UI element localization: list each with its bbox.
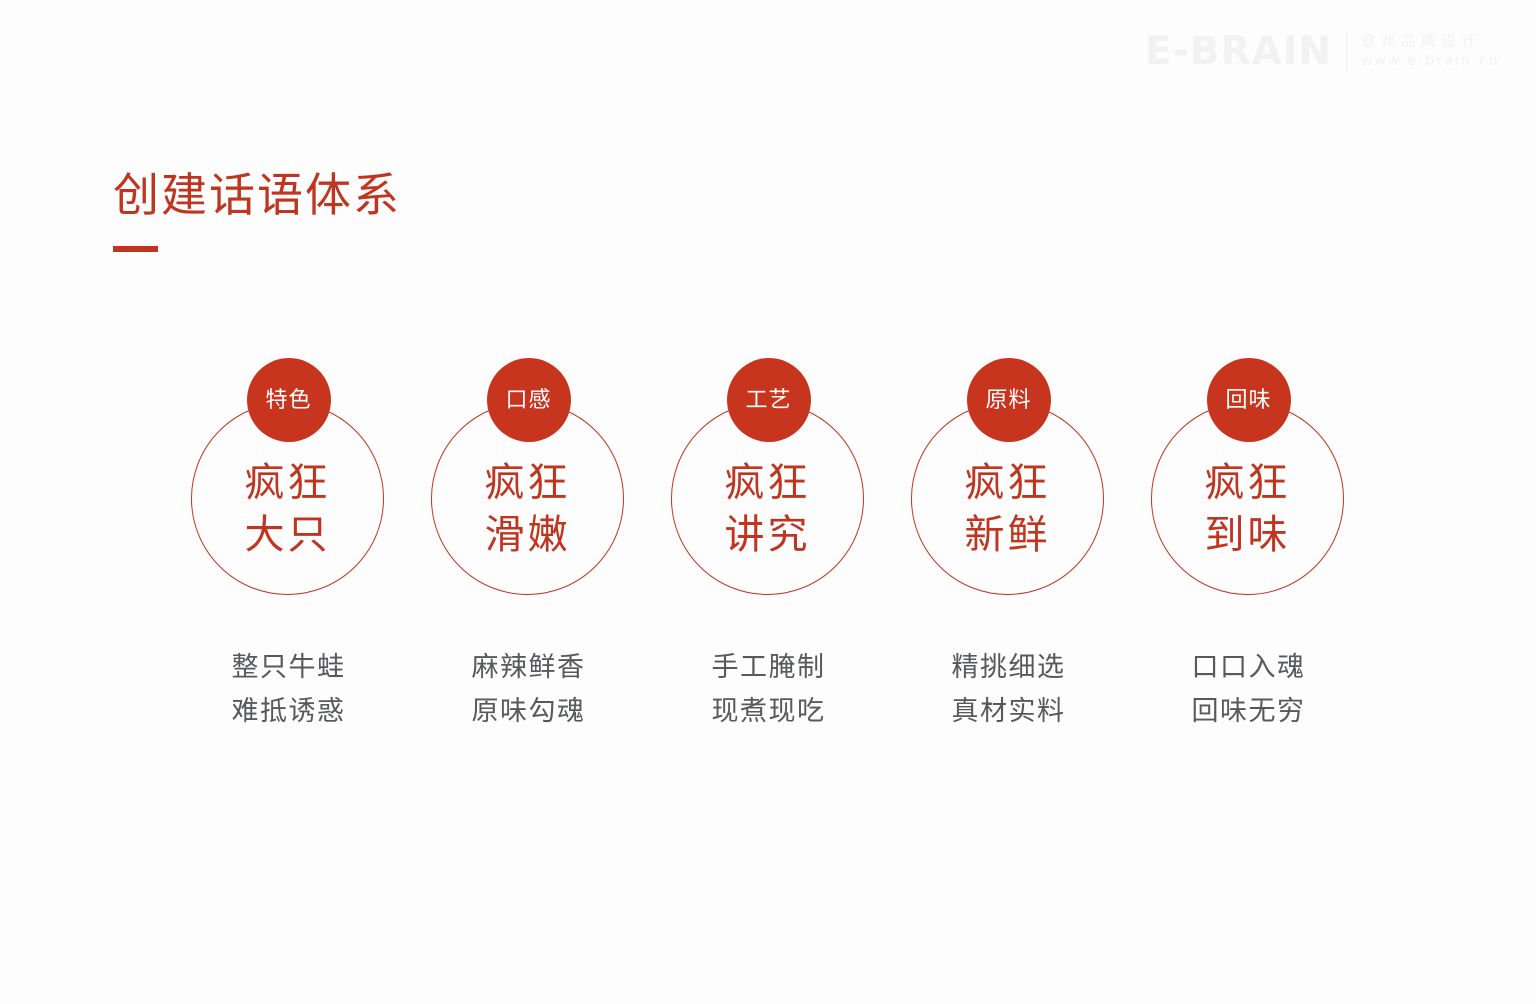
watermark-company-name: 意邦品牌设计 xyxy=(1361,34,1500,49)
pillar-caption: 麻辣鲜香 原味勾魂 xyxy=(472,646,586,733)
pillar-badge-label: 工艺 xyxy=(745,389,791,411)
caption-line-1: 手工腌制 xyxy=(712,646,826,690)
caption-line-1: 精挑细选 xyxy=(952,646,1066,690)
pillar-badge-label: 特色 xyxy=(265,389,311,411)
pillar-circle-group: 疯狂 滑嫩 口感 xyxy=(431,358,626,597)
slogan-line-2: 到味 xyxy=(1205,510,1291,561)
pillar-item: 疯狂 大只 特色 整只牛蛙 难抵诱惑 xyxy=(191,358,386,733)
pillar-slogan: 疯狂 新鲜 xyxy=(965,458,1051,560)
pillar-slogan: 疯狂 滑嫩 xyxy=(485,458,571,560)
pillar-circle-group: 疯狂 讲究 工艺 xyxy=(671,358,866,597)
caption-line-1: 口口入魂 xyxy=(1192,646,1306,690)
slogan-line-2: 滑嫩 xyxy=(485,510,571,561)
pillar-badge: 工艺 xyxy=(727,358,811,442)
pillar-badge: 特色 xyxy=(247,358,331,442)
slogan-line-1: 疯狂 xyxy=(965,458,1051,509)
pillar-badge: 口感 xyxy=(487,358,571,442)
pillar-caption: 口口入魂 回味无穷 xyxy=(1192,646,1306,733)
caption-line-2: 回味无穷 xyxy=(1192,690,1306,734)
slogan-line-2: 新鲜 xyxy=(965,510,1051,561)
caption-line-1: 整只牛蛙 xyxy=(232,646,346,690)
pillar-slogan: 疯狂 讲究 xyxy=(725,458,811,560)
slogan-line-1: 疯狂 xyxy=(1205,458,1291,509)
pillar-item: 疯狂 到味 回味 口口入魂 回味无穷 xyxy=(1151,358,1346,733)
slogan-line-2: 大只 xyxy=(245,510,331,561)
pillar-item: 疯狂 新鲜 原料 精挑细选 真材实料 xyxy=(911,358,1106,733)
pillar-badge-label: 口感 xyxy=(505,389,551,411)
caption-line-1: 麻辣鲜香 xyxy=(472,646,586,690)
pillar-badge-label: 回味 xyxy=(1225,389,1271,411)
title-underline-rule xyxy=(113,246,158,252)
pillar-caption: 整只牛蛙 难抵诱惑 xyxy=(232,646,346,733)
pillar-badge: 原料 xyxy=(967,358,1051,442)
caption-line-2: 难抵诱惑 xyxy=(232,690,346,734)
pillar-row: 疯狂 大只 特色 整只牛蛙 难抵诱惑 疯狂 滑嫩 口感 xyxy=(191,358,1346,733)
pillar-item: 疯狂 滑嫩 口感 麻辣鲜香 原味勾魂 xyxy=(431,358,626,733)
title-block: 创建话语体系 xyxy=(113,172,401,252)
slogan-line-1: 疯狂 xyxy=(245,458,331,509)
pillar-item: 疯狂 讲究 工艺 手工腌制 现煮现吃 xyxy=(671,358,866,733)
caption-line-2: 现煮现吃 xyxy=(712,690,826,734)
pillar-slogan: 疯狂 大只 xyxy=(245,458,331,560)
e-brain-logo: E-BRAIN xyxy=(1145,32,1332,71)
watermark-divider xyxy=(1346,30,1347,72)
pillar-caption: 手工腌制 现煮现吃 xyxy=(712,646,826,733)
pillar-circle-group: 疯狂 大只 特色 xyxy=(191,358,386,597)
watermark-url: www.e-brain.cn xyxy=(1361,54,1500,68)
pillar-caption: 精挑细选 真材实料 xyxy=(952,646,1066,733)
pillar-badge: 回味 xyxy=(1207,358,1291,442)
caption-line-2: 真材实料 xyxy=(952,690,1066,734)
pillar-circle-group: 疯狂 新鲜 原料 xyxy=(911,358,1106,597)
caption-line-2: 原味勾魂 xyxy=(472,690,586,734)
pillar-slogan: 疯狂 到味 xyxy=(1205,458,1291,560)
pillar-circle-group: 疯狂 到味 回味 xyxy=(1151,358,1346,597)
page-title: 创建话语体系 xyxy=(113,172,401,218)
slogan-line-1: 疯狂 xyxy=(725,458,811,509)
brand-watermark: E-BRAIN 意邦品牌设计 www.e-brain.cn xyxy=(1145,30,1500,72)
slogan-line-2: 讲究 xyxy=(725,510,811,561)
watermark-text-group: 意邦品牌设计 www.e-brain.cn xyxy=(1361,34,1500,68)
slogan-line-1: 疯狂 xyxy=(485,458,571,509)
pillar-badge-label: 原料 xyxy=(985,389,1031,411)
